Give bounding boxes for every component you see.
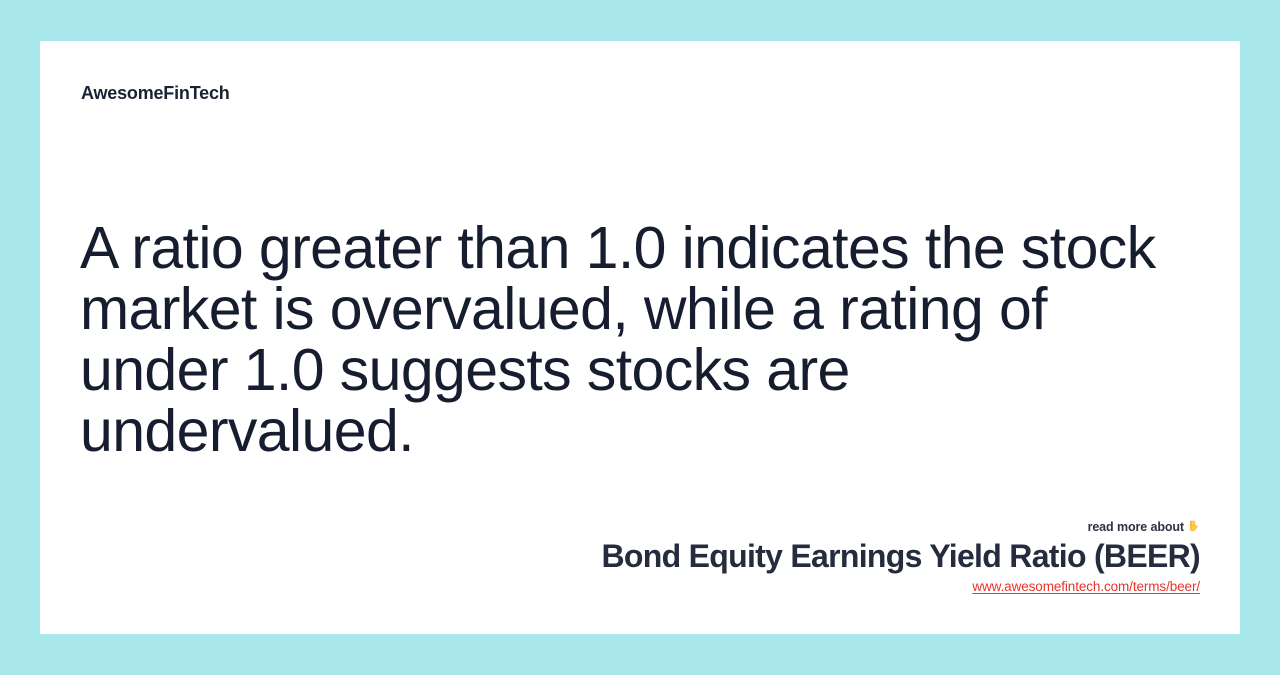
footer-block: read more about Bond Equity Earnings Yie… xyxy=(80,519,1200,596)
read-more-label: read more about xyxy=(1088,520,1184,534)
brand-logo[interactable]: AwesomeFinTech xyxy=(81,83,230,104)
quote-card: AwesomeFinTech A ratio greater than 1.0 … xyxy=(40,41,1240,634)
pointing-down-hand-icon xyxy=(1187,519,1200,533)
quote-text: A ratio greater than 1.0 indicates the s… xyxy=(80,218,1192,462)
term-title: Bond Equity Earnings Yield Ratio (BEER) xyxy=(80,537,1200,575)
read-more-row: read more about xyxy=(80,519,1200,535)
page-root: AwesomeFinTech A ratio greater than 1.0 … xyxy=(0,0,1280,675)
term-url-link[interactable]: www.awesomefintech.com/terms/beer/ xyxy=(972,578,1200,596)
